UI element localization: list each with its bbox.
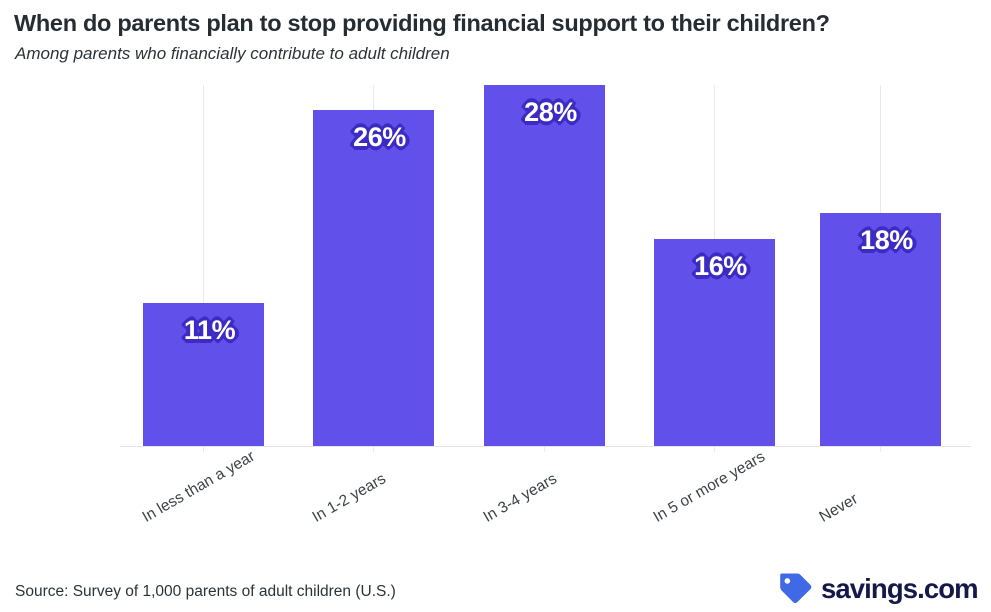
footer-divider xyxy=(0,563,991,564)
plot-area: 11%26%28%16%18% In less than a yearIn 1-… xyxy=(0,0,991,470)
brand-logo[interactable]: savings.com xyxy=(779,572,978,605)
x-tick-label: In less than a year xyxy=(140,449,257,526)
x-tick-label: In 5 or more years xyxy=(651,449,768,525)
bar-3[interactable] xyxy=(484,85,605,446)
x-tick-label: Never xyxy=(817,491,861,525)
bar-value-label: 11% xyxy=(184,315,235,346)
bar-2[interactable] xyxy=(313,110,434,446)
bar-value-label: 28% xyxy=(524,97,577,128)
x-tick-label: In 3-4 years xyxy=(481,471,560,525)
bar-series xyxy=(0,0,991,446)
chart-canvas: When do parents plan to stop providing f… xyxy=(0,0,991,612)
source-note: Source: Survey of 1,000 parents of adult… xyxy=(15,583,396,601)
bar-value-label: 26% xyxy=(353,122,406,153)
x-tick-label: In 1-2 years xyxy=(310,471,389,525)
bar-value-label: 18% xyxy=(860,225,913,256)
brand-wordmark: savings.com xyxy=(821,575,978,603)
bar-value-label: 16% xyxy=(694,251,747,282)
price-tag-icon xyxy=(779,573,812,604)
